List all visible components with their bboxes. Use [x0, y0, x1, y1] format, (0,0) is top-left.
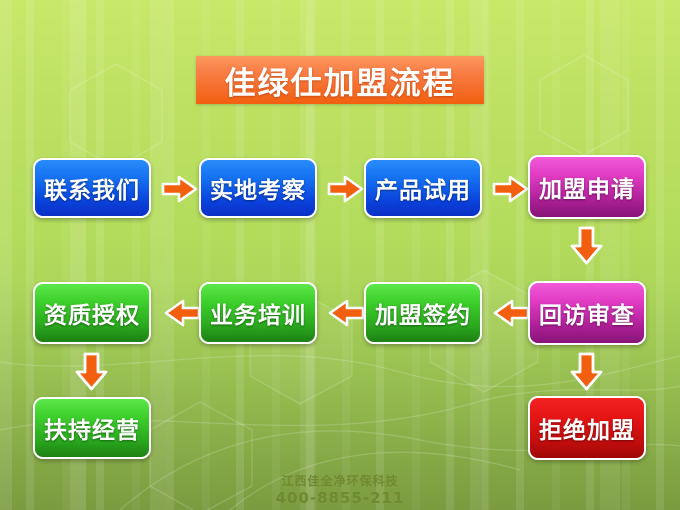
- flow-node-application-rejected[interactable]: 拒绝加盟: [528, 396, 646, 460]
- flow-node-label: 资质授权: [44, 296, 140, 330]
- flow-node-site-visit[interactable]: 实地考察: [199, 158, 317, 218]
- page-title: 佳绿仕加盟流程: [225, 58, 456, 103]
- arrow-down-icon: [570, 226, 603, 266]
- footer-phone: 400-8855-211: [0, 489, 680, 508]
- flow-node-label: 产品试用: [375, 171, 471, 205]
- arrow-down-icon: [75, 352, 108, 392]
- flow-node-label: 业务培训: [210, 296, 306, 330]
- flow-node-join-application[interactable]: 加盟申请: [528, 155, 646, 219]
- flow-node-product-trial[interactable]: 产品试用: [364, 158, 482, 218]
- flow-node-business-training[interactable]: 业务培训: [199, 282, 317, 344]
- flow-node-label: 加盟申请: [539, 170, 635, 204]
- footer: 江西佳全净环保科技 400-8855-211: [0, 474, 680, 508]
- flow-node-qualification-authorization[interactable]: 资质授权: [33, 282, 151, 344]
- flow-node-label: 拒绝加盟: [539, 411, 635, 445]
- flow-node-franchise-contract[interactable]: 加盟签约: [364, 282, 482, 344]
- arrow-left-icon: [163, 298, 201, 328]
- footer-company: 江西佳全净环保科技: [0, 474, 680, 489]
- arrow-right-icon: [492, 174, 530, 204]
- flow-node-label: 联系我们: [44, 171, 140, 205]
- page-title-banner: 佳绿仕加盟流程: [196, 56, 484, 104]
- flow-node-label: 回访审查: [539, 296, 635, 330]
- flowchart-poster: 佳绿仕加盟流程 联系我们 实地考察 产品试用 加盟申请 资质授权: [0, 0, 680, 510]
- flow-node-label: 扶持经营: [44, 411, 140, 445]
- flow-node-operation-support[interactable]: 扶持经营: [33, 397, 151, 459]
- arrow-left-icon: [492, 298, 530, 328]
- flow-node-follow-up-review[interactable]: 回访审查: [528, 281, 646, 345]
- flow-node-contact-us[interactable]: 联系我们: [33, 158, 151, 218]
- arrow-down-icon: [570, 352, 603, 392]
- arrow-right-icon: [161, 174, 199, 204]
- arrow-left-icon: [327, 298, 365, 328]
- flow-node-label: 实地考察: [210, 171, 306, 205]
- flow-node-label: 加盟签约: [375, 296, 471, 330]
- arrow-right-icon: [327, 174, 365, 204]
